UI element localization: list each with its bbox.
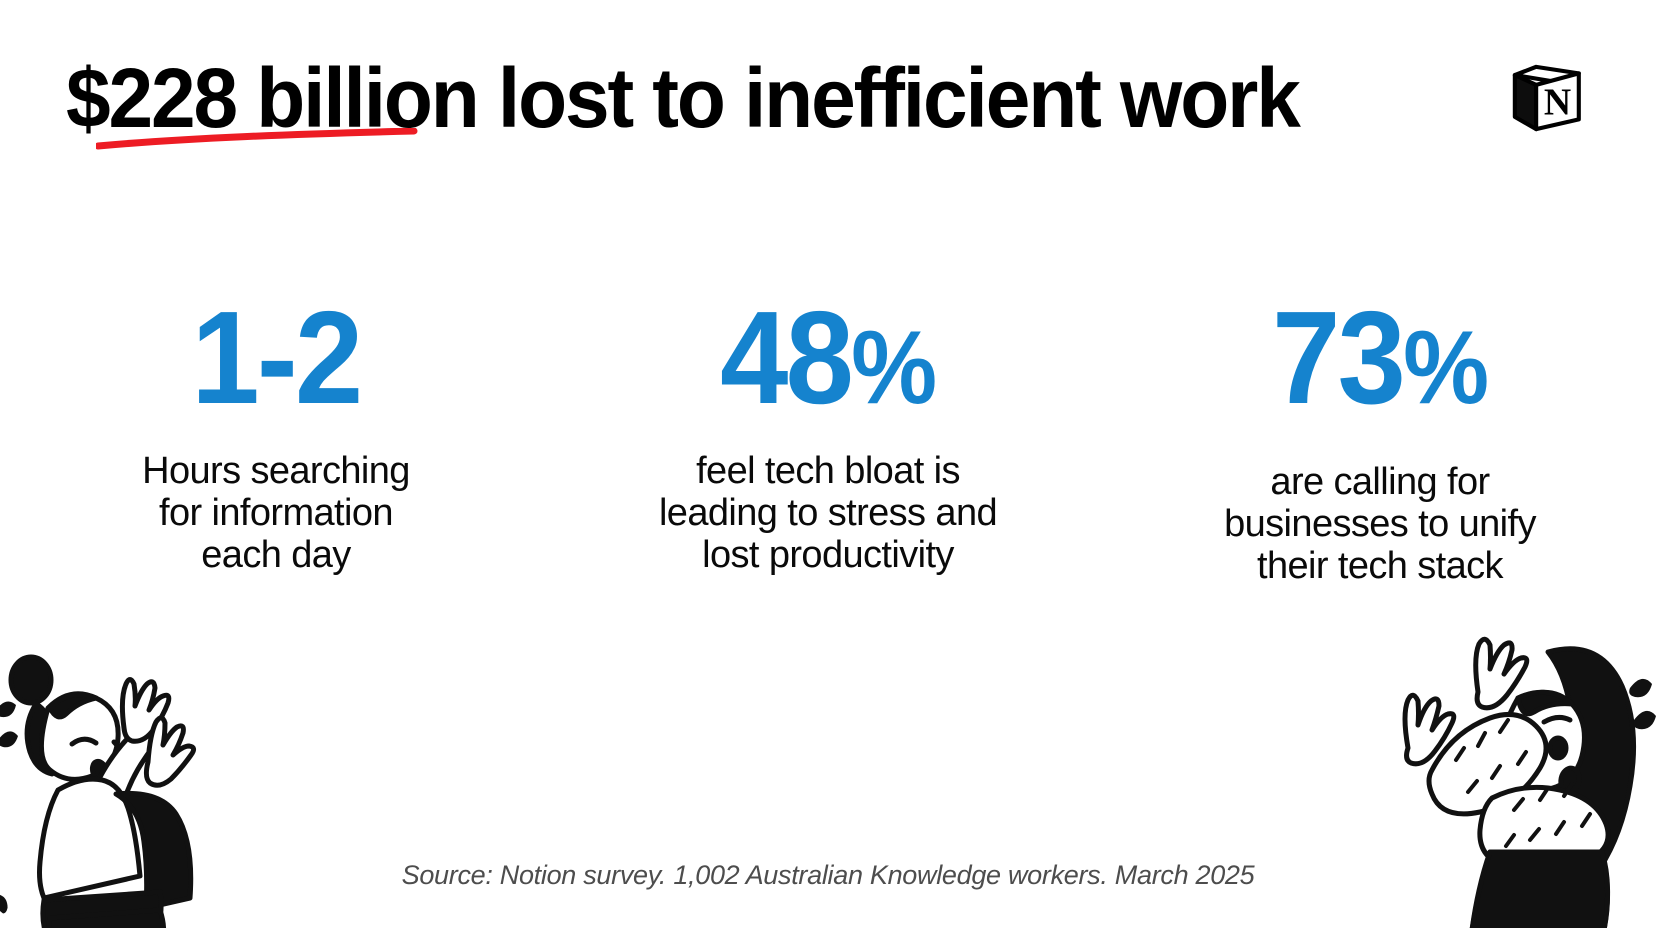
stat-hours-searching: 1-2 Hours searching for information each… (0, 292, 552, 576)
stat-caption: are calling for businesses to unify thei… (1224, 461, 1536, 587)
stat-number: 1-2 (191, 284, 360, 431)
stat-tech-bloat-stress: 48% feel tech bloat is leading to stress… (552, 292, 1104, 576)
stats-row: 1-2 Hours searching for information each… (0, 292, 1656, 587)
overwhelmed-person-illustration (1372, 600, 1656, 928)
stat-caption: feel tech bloat is leading to stress and… (659, 450, 997, 576)
page-title: $228 billion lost to inefficient work (66, 48, 1212, 148)
stat-number: 48 (720, 284, 851, 431)
notion-logo-icon[interactable]: N (1505, 57, 1587, 139)
stressed-person-illustration (0, 612, 238, 928)
stat-value: 73% (1272, 292, 1487, 434)
stat-unify-tech-stack: 73% are calling for businesses to unify … (1104, 292, 1656, 587)
stat-value: 1-2 (191, 292, 360, 434)
infographic-slide: $228 billion lost to inefficient work N … (0, 0, 1656, 928)
stat-value: 48% (720, 292, 935, 434)
stat-suffix: % (851, 310, 935, 426)
stat-number: 73 (1272, 284, 1403, 431)
stat-suffix: % (1403, 310, 1487, 426)
stat-caption: Hours searching for information each day (142, 450, 410, 576)
notion-logo-letter: N (1544, 81, 1571, 123)
